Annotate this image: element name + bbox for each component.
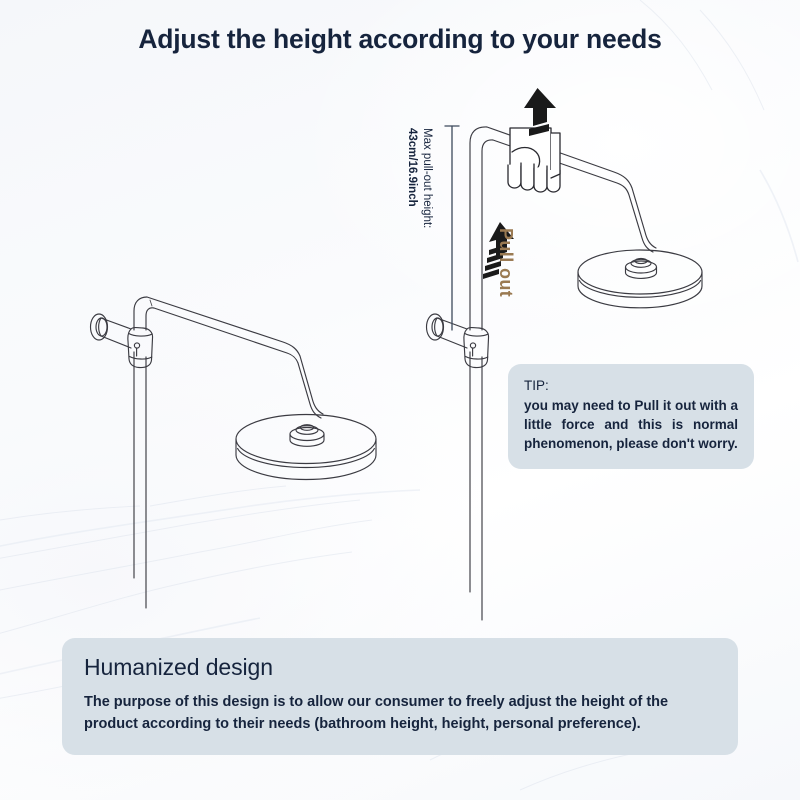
max-height-label-line1: Max pull-out height: [419,128,434,328]
slider-bracket [128,328,153,368]
max-height-label-line2: 43cm/16.9inch [404,128,419,328]
diagram-shower-extended [427,88,703,620]
max-height-label: Max pull-out height: 43cm/16.9inch [404,128,434,328]
measure-line [445,126,459,330]
shower-head [236,415,376,480]
slider-bracket [464,328,489,368]
hand-grip-icon [508,128,560,192]
humanized-design-body: The purpose of this design is to allow o… [84,691,716,735]
wall-stub [435,318,467,348]
humanized-design-heading: Humanized design [84,654,716,681]
wall-stub [99,318,131,348]
tip-heading: TIP: [524,378,738,393]
tip-box: TIP: you may need to Pull it out with a … [508,364,754,469]
shower-arm [134,297,323,418]
riser-pipe [470,352,482,620]
infographic-page: Adjust the height according to your need… [0,0,800,800]
shower-head [578,250,702,308]
diagram-shower-retracted [91,297,377,608]
riser-pipe [134,352,146,608]
humanized-design-panel: Humanized design The purpose of this des… [62,638,738,755]
pull-out-label: Pull out [495,228,516,297]
tip-body: you may need to Pull it out with a littl… [524,396,738,453]
